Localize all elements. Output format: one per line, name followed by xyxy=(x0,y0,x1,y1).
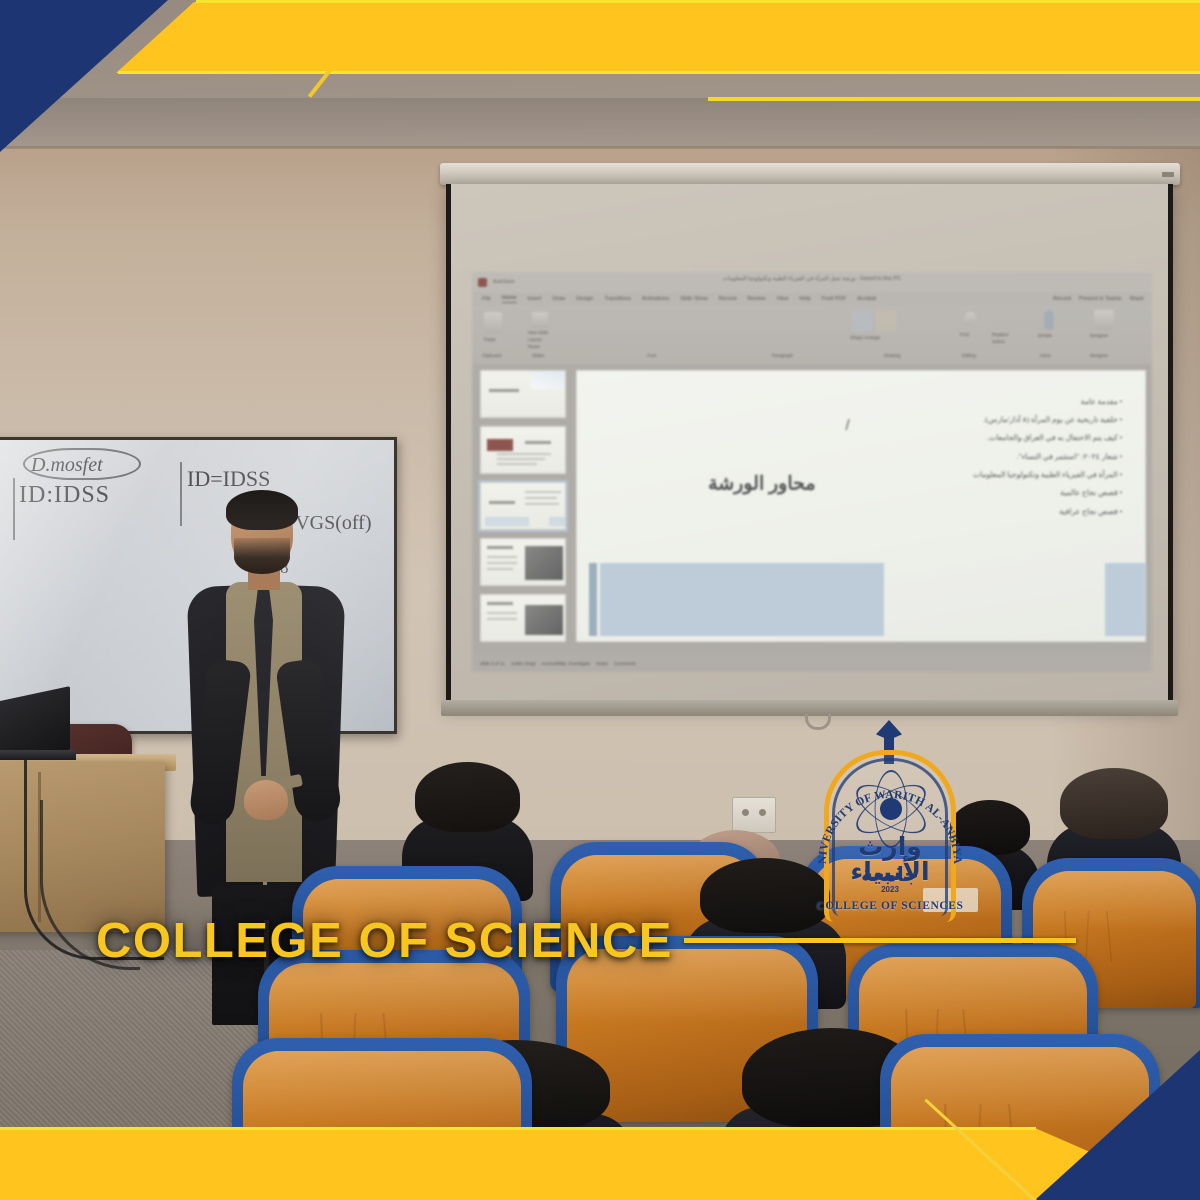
slide-thumbnail[interactable] xyxy=(480,538,566,586)
logo-college-name: COLLEGE OF SCIENCES xyxy=(806,900,974,912)
powerpoint-ribbon: Paste Clipboard New Slide Layout Reset S… xyxy=(472,306,1152,364)
new-slide-icon[interactable] xyxy=(532,312,548,328)
powerpoint-workspace: / محاور الورشة مقدمة عامة خلفية تاريخية … xyxy=(472,364,1152,672)
audience-member xyxy=(415,762,520,882)
slide-bullet: خلفية تاريخية عن يوم المرأة (٨ آذار/مارس… xyxy=(804,411,1122,429)
shape-fill-icon[interactable] xyxy=(876,310,896,332)
notes-button[interactable]: Notes xyxy=(596,661,608,666)
tab-design[interactable]: Design xyxy=(576,296,593,302)
presenter-beard xyxy=(234,538,290,574)
comments-button[interactable]: Comments xyxy=(614,661,636,666)
laptop-base xyxy=(0,750,76,760)
group-slides: Slides xyxy=(532,353,544,358)
top-yellow-band xyxy=(116,2,1200,73)
tab-review[interactable]: Review xyxy=(747,296,765,302)
group-voice: Voice xyxy=(1040,353,1051,358)
university-logo: UNIVERSITY OF WARITH AL-ANBIYAA وارث الأ… xyxy=(806,722,974,928)
wall-seam xyxy=(0,146,1200,149)
powerpoint-ribbon-tabs: File Home Insert Draw Design Transitions… xyxy=(472,292,1152,306)
group-paragraph: Paragraph xyxy=(772,353,793,358)
tab-draw[interactable]: Draw xyxy=(552,296,565,302)
slide-bullet: قصص نجاح عالمية xyxy=(804,484,1122,502)
slide-bullet: مقدمة عامة xyxy=(804,393,1122,411)
projector-screen-housing xyxy=(440,163,1180,185)
tab-file[interactable]: File xyxy=(482,296,491,302)
slide-accent-stripe xyxy=(589,563,597,636)
shape-arrange-label[interactable]: Shape Arrange xyxy=(850,335,880,340)
record-button[interactable]: Record xyxy=(1053,296,1071,302)
slide-bullet-list[interactable]: مقدمة عامة خلفية تاريخية عن يوم المرأة (… xyxy=(804,393,1122,522)
logo-year: 2023 xyxy=(820,885,960,894)
dictate-icon[interactable] xyxy=(1044,310,1054,330)
wall-socket xyxy=(732,797,776,833)
projected-powerpoint: AutoSave ورشة عمل المرأة في الفيزياء الط… xyxy=(472,272,1152,672)
slide-thumbnail-panel[interactable] xyxy=(480,370,566,642)
top-band-underline xyxy=(118,71,1200,74)
slide-accent-block-right xyxy=(1105,563,1145,636)
slide-bullet: كيف يتم الاحتفال به في العراق والجامعات. xyxy=(804,429,1122,447)
title-rule xyxy=(684,938,1076,943)
dictate-label[interactable]: Dictate xyxy=(1038,333,1052,338)
accessibility-status[interactable]: Accessibility: Investigate xyxy=(541,661,590,666)
share-button[interactable]: Share xyxy=(1129,296,1144,302)
powerpoint-titlebar: AutoSave ورشة عمل المرأة في الفيزياء الط… xyxy=(472,272,1152,292)
tab-foxit-pdf[interactable]: Foxit PDF xyxy=(822,296,846,302)
slide-bullet: قصص نجاح عراقية xyxy=(804,503,1122,521)
slide-accent-block xyxy=(600,563,884,636)
navy-corner-bottom-right xyxy=(1035,1050,1200,1200)
slide-bullet: شعار ٢٠٢٤: "استثمر في النساء". xyxy=(804,448,1122,466)
slide-thumbnail[interactable] xyxy=(480,426,566,474)
select-label[interactable]: Select xyxy=(992,339,1005,344)
reset-label[interactable]: Reset xyxy=(528,344,540,349)
paste-label[interactable]: Paste xyxy=(484,337,496,342)
bottom-band-highlight xyxy=(0,1127,1036,1130)
designer-icon[interactable] xyxy=(1094,310,1114,330)
presenter-hands xyxy=(244,780,288,820)
tab-acrobat[interactable]: Acrobat xyxy=(857,296,876,302)
page-title: COLLEGE OF SCIENCE xyxy=(96,913,673,969)
find-label[interactable]: Find xyxy=(960,332,969,337)
logo-arabic-secondary: جامعة xyxy=(820,862,960,886)
tab-transitions[interactable]: Transitions xyxy=(604,296,631,302)
slide-bullet: المرأة في الفيزياء الطبية وتكنولوجيا الم… xyxy=(804,466,1122,484)
group-font: Font xyxy=(647,353,656,358)
slide-thumbnail-selected[interactable] xyxy=(480,482,566,530)
slide-thumbnail[interactable] xyxy=(480,370,566,418)
audience-hair xyxy=(1060,768,1168,839)
tab-view[interactable]: View xyxy=(777,296,789,302)
layout-label[interactable]: Layout xyxy=(528,337,542,342)
group-clipboard: Clipboard xyxy=(482,353,501,358)
slide-counter: Slide 3 of 11 xyxy=(480,661,505,666)
slide-title[interactable]: محاور الورشة xyxy=(708,473,816,496)
event-photograph: mosfet D.mosfet ID:IDSS ID=IDSS VGS / VG… xyxy=(0,0,1200,1200)
group-drawing: Drawing xyxy=(884,353,901,358)
designer-label[interactable]: Designer xyxy=(1090,333,1108,338)
shape-styles-icon[interactable] xyxy=(852,310,872,332)
replace-label[interactable]: Replace xyxy=(992,332,1009,337)
tab-animations[interactable]: Animations xyxy=(642,296,669,302)
slide-editing-canvas[interactable]: / محاور الورشة مقدمة عامة خلفية تاريخية … xyxy=(576,370,1146,642)
new-slide-label[interactable]: New Slide xyxy=(528,330,548,335)
tab-slide-show[interactable]: Slide Show xyxy=(680,296,708,302)
slide-thumbnail[interactable] xyxy=(480,594,566,642)
navy-corner-top-left xyxy=(0,0,168,152)
top-right-rule xyxy=(708,97,1200,101)
presenter-hair xyxy=(226,490,298,530)
tab-record[interactable]: Record xyxy=(719,296,737,302)
find-icon[interactable] xyxy=(964,312,976,326)
powerpoint-status-bar: Slide 3 of 11 Arabic (Iraq) Accessibilit… xyxy=(472,654,1152,672)
language-indicator[interactable]: Arabic (Iraq) xyxy=(511,661,536,666)
document-filename: ورشة عمل المرأة في الفيزياء الطبية وتكنو… xyxy=(472,276,1152,282)
tab-home[interactable]: Home xyxy=(502,295,517,303)
tab-insert[interactable]: Insert xyxy=(528,296,542,302)
tab-help[interactable]: Help xyxy=(799,296,810,302)
audience-hair xyxy=(415,762,520,832)
paste-icon[interactable] xyxy=(484,312,502,334)
group-editing: Editing xyxy=(962,353,976,358)
group-designer: Designer xyxy=(1090,353,1108,358)
top-band-highlight xyxy=(196,0,1200,3)
present-in-teams-button[interactable]: Present in Teams xyxy=(1079,296,1121,302)
poster-canvas: mosfet D.mosfet ID:IDSS ID=IDSS VGS / VG… xyxy=(0,0,1200,1200)
